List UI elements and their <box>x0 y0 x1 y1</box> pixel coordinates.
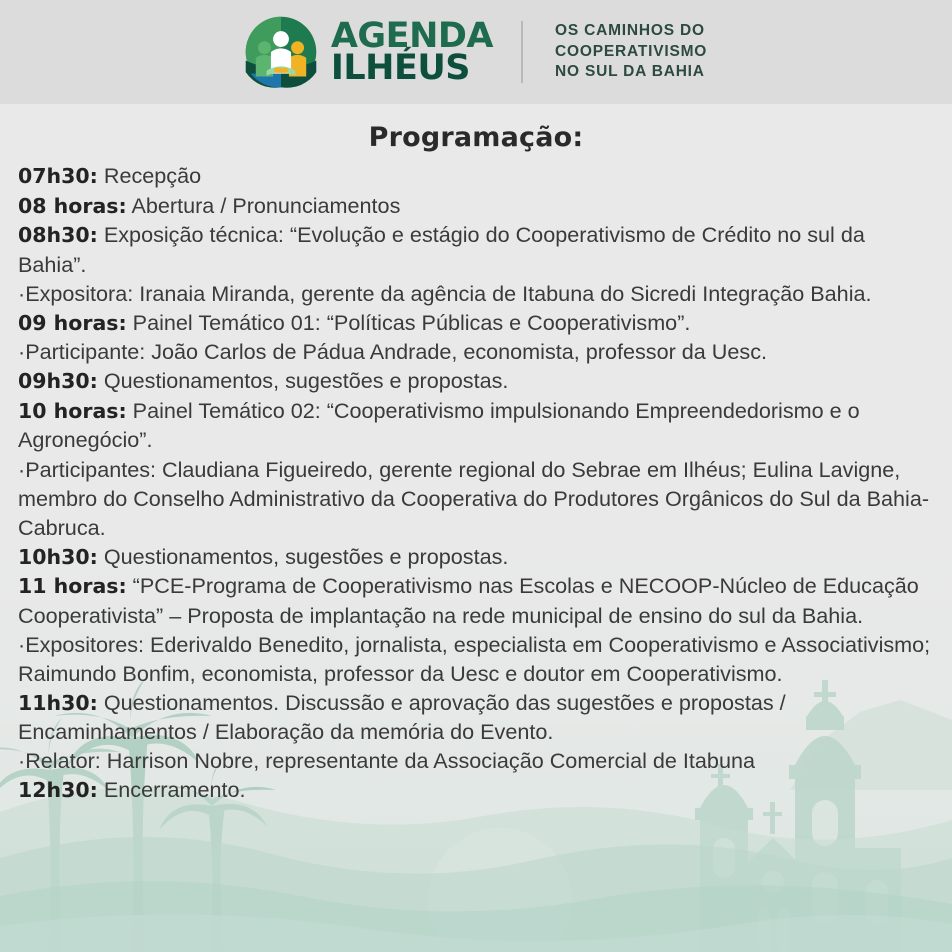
schedule-entry-description: ·Participantes: Claudiana Figueiredo, ge… <box>18 457 929 540</box>
schedule-entry-description: ·Participante: João Carlos de Pádua Andr… <box>18 339 767 364</box>
schedule-entry-description: Encerramento. <box>98 777 246 802</box>
schedule-entry-description: Questionamentos, sugestões e propostas. <box>98 368 509 393</box>
poster-header: AGENDA ILHÉUS OS CAMINHOS DO COOPERATIVI… <box>0 0 952 104</box>
schedule-entry: 11 horas: “PCE-Programa de Cooperativism… <box>18 571 934 630</box>
cooperative-people-circle-logo <box>245 16 317 88</box>
schedule-entry-description: Painel Temático 01: “Políticas Públicas … <box>127 310 691 335</box>
schedule-entry-time: 07h30: <box>18 164 98 188</box>
brand-tagline: OS CAMINHOS DO COOPERATIVISMO NO SUL DA … <box>555 21 707 82</box>
schedule-entry-time: 08h30: <box>18 223 98 247</box>
schedule-entry-time: 11 horas: <box>18 574 127 598</box>
schedule-entry-time: 08 horas: <box>18 194 127 218</box>
schedule-entry-description: Questionamentos. Discussão e aprovação d… <box>18 690 786 745</box>
brand-lockup: AGENDA ILHÉUS OS CAMINHOS DO COOPERATIVI… <box>245 16 707 88</box>
brand-word-ilheus: ILHÉUS <box>331 52 493 84</box>
event-program-poster: AGENDA ILHÉUS OS CAMINHOS DO COOPERATIVI… <box>0 0 952 952</box>
tagline-line-1: OS CAMINHOS DO <box>555 21 707 41</box>
schedule-entry-time: 11h30: <box>18 691 98 715</box>
brand-divider <box>521 21 523 83</box>
schedule-entry: 08h30: Exposição técnica: “Evolução e es… <box>18 220 934 279</box>
schedule-entry-description: Abertura / Pronunciamentos <box>127 193 401 218</box>
schedule-subentry: ·Expositores: Ederivaldo Benedito, jorna… <box>18 630 934 688</box>
schedule-entry: 09 horas: Painel Temático 01: “Políticas… <box>18 308 934 338</box>
schedule-entry: 10 horas: Painel Temático 02: “Cooperati… <box>18 396 934 455</box>
sea-waves <box>0 881 952 952</box>
schedule-entry-time: 12h30: <box>18 778 98 802</box>
schedule-entry: 09h30: Questionamentos, sugestões e prop… <box>18 366 934 396</box>
schedule-entry: 07h30: Recepção <box>18 161 934 191</box>
poster-content: Programação: 07h30: Recepção08 horas: Ab… <box>0 104 952 805</box>
schedule-entry-description: Recepção <box>98 163 201 188</box>
schedule-entry: 10h30: Questionamentos, sugestões e prop… <box>18 542 934 572</box>
schedule-list: 07h30: Recepção08 horas: Abertura / Pron… <box>0 161 952 805</box>
schedule-entry-description: ·Expositora: Iranaia Miranda, gerente da… <box>18 281 872 306</box>
page-title: Programação: <box>0 122 952 153</box>
schedule-entry-description: ·Relator: Harrison Nobre, representante … <box>18 748 755 773</box>
schedule-subentry: ·Participantes: Claudiana Figueiredo, ge… <box>18 455 934 542</box>
schedule-entry-description: Exposição técnica: “Evolução e estágio d… <box>18 222 865 277</box>
brand-wordmark: AGENDA ILHÉUS <box>331 20 493 84</box>
tagline-line-2: COOPERATIVISMO <box>555 42 707 62</box>
hill-layers <box>0 788 952 952</box>
schedule-subentry: ·Participante: João Carlos de Pádua Andr… <box>18 337 934 366</box>
schedule-subentry: ·Expositora: Iranaia Miranda, gerente da… <box>18 279 934 308</box>
schedule-entry-description: “PCE-Programa de Cooperativismo nas Esco… <box>18 573 919 628</box>
schedule-entry-description: ·Expositores: Ederivaldo Benedito, jorna… <box>18 632 930 686</box>
schedule-entry: 12h30: Encerramento. <box>18 775 934 805</box>
sun-circle <box>428 828 572 952</box>
schedule-subentry: ·Relator: Harrison Nobre, representante … <box>18 746 934 775</box>
schedule-entry-time: 10h30: <box>18 545 98 569</box>
schedule-entry: 11h30: Questionamentos. Discussão e apro… <box>18 688 934 747</box>
schedule-entry-time: 09h30: <box>18 369 98 393</box>
hill-layers <box>0 837 952 952</box>
schedule-entry-description: Painel Temático 02: “Cooperativismo impu… <box>18 398 860 453</box>
tagline-line-3: NO SUL DA BAHIA <box>555 62 707 82</box>
sea-waves <box>0 914 952 952</box>
schedule-entry: 08 horas: Abertura / Pronunciamentos <box>18 191 934 221</box>
schedule-entry-description: Questionamentos, sugestões e propostas. <box>98 544 509 569</box>
schedule-entry-time: 10 horas: <box>18 399 127 423</box>
schedule-entry-time: 09 horas: <box>18 311 127 335</box>
